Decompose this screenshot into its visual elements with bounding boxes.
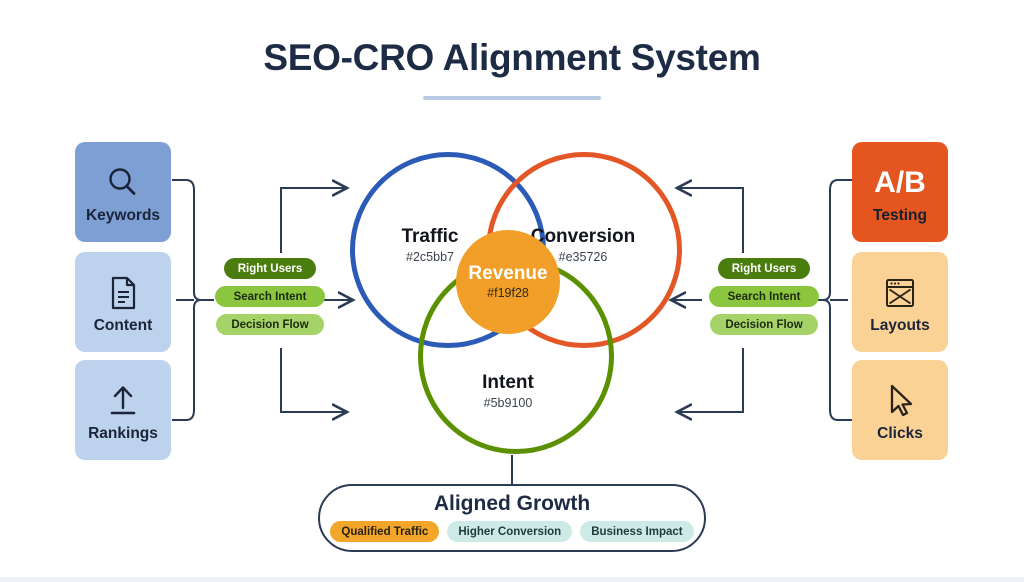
card-clicks[interactable]: Clicks: [852, 360, 948, 460]
card-content-label: Content: [94, 317, 153, 335]
diagram-canvas: SEO-CRO Alignment System: [0, 0, 1024, 582]
up-arrow-icon: [105, 378, 141, 424]
card-keywords[interactable]: Keywords: [75, 142, 171, 242]
card-rankings[interactable]: Rankings: [75, 360, 171, 460]
browser-window-icon: [882, 270, 918, 316]
venn-label-intent: Intent #5b9100: [428, 372, 588, 410]
badge-qualified-traffic[interactable]: Qualified Traffic: [330, 521, 439, 542]
pill-decision-flow-right[interactable]: Decision Flow: [710, 314, 818, 335]
pill-decision-flow-left[interactable]: Decision Flow: [216, 314, 324, 335]
card-keywords-label: Keywords: [86, 207, 160, 225]
document-icon: [106, 270, 140, 316]
badge-business-impact[interactable]: Business Impact: [580, 521, 693, 542]
venn-center-revenue: Revenue #f19f28: [456, 230, 560, 334]
pill-right-users-right[interactable]: Right Users: [718, 258, 810, 279]
pill-group-right: Right Users Search Intent Decision Flow: [704, 258, 824, 342]
aligned-growth-title: Aligned Growth: [434, 492, 590, 516]
pill-right-users-left[interactable]: Right Users: [224, 258, 316, 279]
magnifier-icon: [105, 160, 141, 206]
venn-diagram: Traffic #2c5bb7 Conversion #e35726 Inten…: [340, 140, 690, 470]
card-layouts[interactable]: Layouts: [852, 252, 948, 352]
card-clicks-label: Clicks: [877, 425, 923, 443]
ab-split-label: A/B: [874, 166, 926, 200]
aligned-growth-box: Aligned Growth Qualified Traffic Higher …: [318, 484, 706, 552]
venn-intent-hex: #5b9100: [428, 396, 588, 410]
aligned-growth-badges: Qualified Traffic Higher Conversion Busi…: [330, 521, 693, 542]
bottom-edge-band: [0, 577, 1024, 582]
pill-group-left: Right Users Search Intent Decision Flow: [210, 258, 330, 342]
pill-search-intent-left[interactable]: Search Intent: [215, 286, 325, 307]
cursor-arrow-icon: [883, 378, 917, 424]
venn-intent-name: Intent: [428, 372, 588, 394]
venn-revenue-hex: #f19f28: [487, 286, 529, 300]
pill-search-intent-right[interactable]: Search Intent: [709, 286, 819, 307]
badge-higher-conversion[interactable]: Higher Conversion: [447, 521, 572, 542]
card-testing[interactable]: A/B Testing: [852, 142, 948, 242]
card-content[interactable]: Content: [75, 252, 171, 352]
card-rankings-label: Rankings: [88, 425, 158, 443]
card-testing-label: Testing: [873, 207, 927, 225]
ab-split-icon: A/B: [874, 160, 926, 206]
venn-revenue-name: Revenue: [468, 264, 547, 285]
card-layouts-label: Layouts: [870, 317, 929, 335]
